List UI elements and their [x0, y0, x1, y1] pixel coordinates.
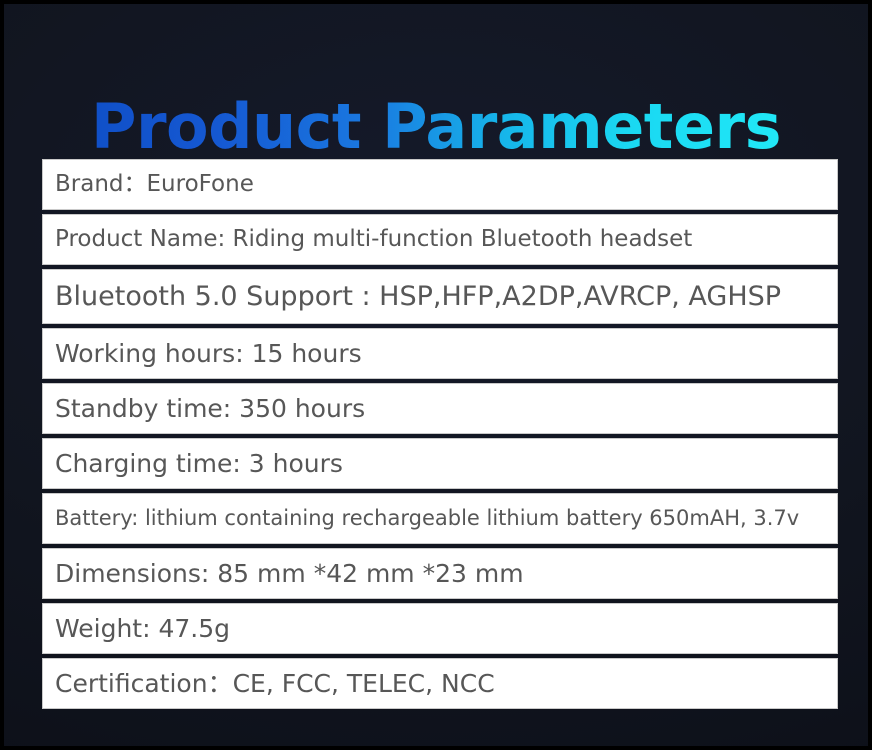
- spec-row: Weight: 47.5g: [42, 603, 838, 654]
- spec-row-text: Bluetooth 5.0 Support : HSP,HFP,A2DP,AVR…: [55, 282, 781, 312]
- spec-row-text: Dimensions: 85 mm *42 mm *23 mm: [55, 560, 524, 588]
- spec-row-text: Charging time: 3 hours: [55, 450, 343, 478]
- page-title: Product Parameters: [91, 94, 781, 159]
- spec-row: Product Name: Riding multi-function Blue…: [42, 214, 838, 265]
- spec-row-text: Working hours: 15 hours: [55, 340, 362, 368]
- spec-row-text: Product Name: Riding multi-function Blue…: [55, 227, 692, 252]
- spec-row: Standby time: 350 hours: [42, 383, 838, 434]
- spec-row-text: Weight: 47.5g: [55, 615, 230, 643]
- spec-row-text: Certification：CE, FCC, TELEC, NCC: [55, 670, 495, 698]
- product-parameters-poster: Product Parameters Brand：EuroFoneProduct…: [0, 0, 872, 750]
- spec-row: Bluetooth 5.0 Support : HSP,HFP,A2DP,AVR…: [42, 269, 838, 324]
- spec-row: Brand：EuroFone: [42, 159, 838, 210]
- spec-row: Battery: lithium containing rechargeable…: [42, 493, 838, 544]
- spec-table: Brand：EuroFoneProduct Name: Riding multi…: [42, 159, 838, 713]
- spec-row-text: Standby time: 350 hours: [55, 395, 365, 423]
- spec-row-text: Brand：EuroFone: [55, 172, 254, 197]
- spec-row-text: Battery: lithium containing rechargeable…: [55, 507, 799, 530]
- spec-row: Certification：CE, FCC, TELEC, NCC: [42, 658, 838, 709]
- spec-row: Dimensions: 85 mm *42 mm *23 mm: [42, 548, 838, 599]
- spec-row: Charging time: 3 hours: [42, 438, 838, 489]
- spec-row: Working hours: 15 hours: [42, 328, 838, 379]
